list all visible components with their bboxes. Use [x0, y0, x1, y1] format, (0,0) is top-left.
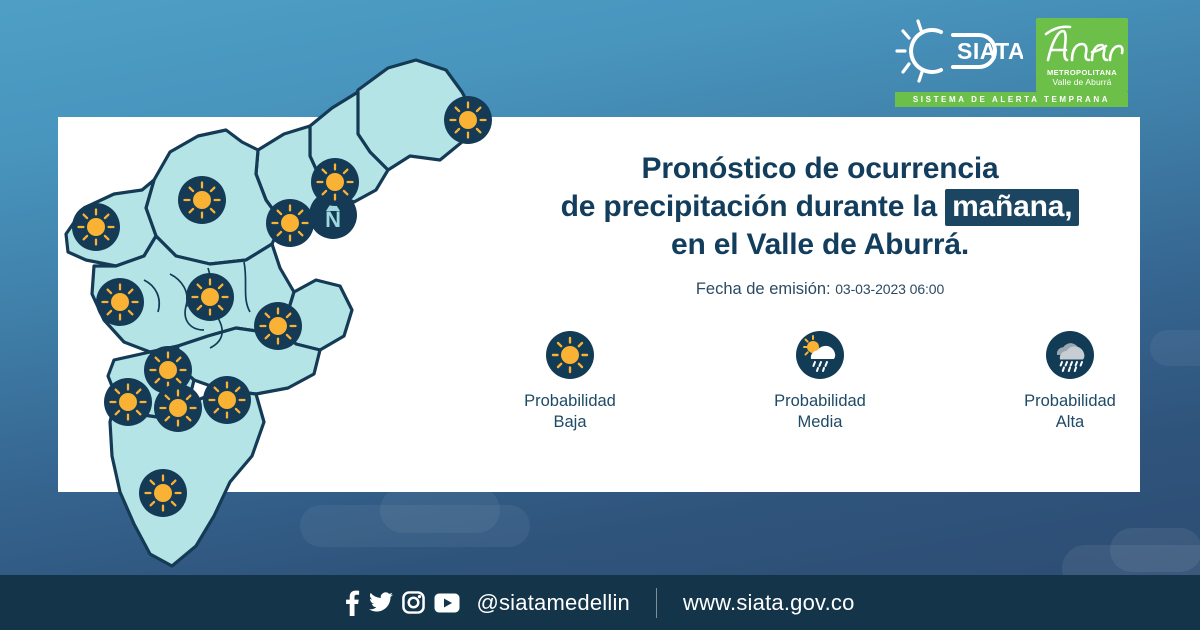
issue-date: Fecha de emisión: 03-03-2023 06:00: [500, 280, 1140, 299]
sun-rain-icon: [796, 331, 844, 379]
legend-item-media: Probabilidad Media: [750, 331, 890, 433]
map-marker-sun-icon[interactable]: [203, 376, 251, 424]
area-logo-line1: METROPOLITANA: [1047, 68, 1117, 77]
map-marker-sun-icon[interactable]: [266, 199, 314, 247]
youtube-icon[interactable]: [434, 593, 460, 613]
title-line-2-text: de precipitación durante la: [561, 190, 946, 223]
map-marker-sun-icon[interactable]: [154, 384, 202, 432]
twitter-icon[interactable]: [369, 592, 393, 614]
social-handle[interactable]: @siatamedellin: [476, 590, 630, 616]
map-marker-sun-icon[interactable]: [139, 469, 187, 517]
sun-icon: [546, 331, 594, 379]
probability-legend: Probabilidad Baja: [500, 331, 1140, 433]
legend-item-baja: Probabilidad Baja: [500, 331, 640, 433]
title-line-2: de precipitación durante la mañana,: [500, 188, 1140, 226]
issue-date-label: Fecha de emisión:: [696, 280, 831, 298]
title-line-1: Pronóstico de ocurrencia: [500, 150, 1140, 188]
map-marker-sun-icon[interactable]: [444, 96, 492, 144]
map-marker-sun-icon[interactable]: [178, 176, 226, 224]
legend-label-line1: Probabilidad: [1000, 391, 1140, 412]
title-highlight-manana: mañana,: [945, 189, 1079, 226]
decorative-cloud: [1150, 330, 1200, 366]
map-marker-sun-icon[interactable]: [96, 278, 144, 326]
decorative-cloud: [1110, 528, 1200, 572]
legend-label-line2: Media: [750, 412, 890, 433]
decorative-cloud: [380, 487, 500, 533]
tagline-bar: SISTEMA DE ALERTA TEMPRANA: [895, 92, 1128, 107]
siata-logo: SIATA: [895, 18, 1023, 84]
legend-item-alta: Probabilidad Alta: [1000, 331, 1140, 433]
compass-label: N: [325, 207, 341, 232]
tagline-text: SISTEMA DE ALERTA TEMPRANA: [913, 95, 1110, 104]
forecast-panel: Pronóstico de ocurrencia de precipitació…: [500, 150, 1140, 433]
map-marker-sun-icon[interactable]: [72, 203, 120, 251]
map-marker-sun-icon[interactable]: [186, 273, 234, 321]
legend-label-line1: Probabilidad: [750, 391, 890, 412]
area-metropolitana-logo: METROPOLITANA Valle de Aburrá: [1036, 18, 1128, 92]
legend-label-line2: Baja: [500, 412, 640, 433]
map-marker-sun-icon[interactable]: [104, 378, 152, 426]
footer-divider: [656, 588, 657, 618]
area-script-icon: [1036, 22, 1128, 68]
page-title: Pronóstico de ocurrencia de precipitació…: [500, 150, 1140, 264]
instagram-icon[interactable]: [402, 591, 425, 614]
legend-label-line1: Probabilidad: [500, 391, 640, 412]
facebook-icon[interactable]: [345, 590, 360, 616]
issue-date-value: 03-03-2023 06:00: [835, 281, 944, 297]
area-logo-line2: Valle de Aburrá: [1053, 77, 1112, 87]
title-line-3: en el Valle de Aburrá.: [500, 226, 1140, 264]
map-marker-sun-icon[interactable]: [311, 158, 359, 206]
brand-logos: SIATA METROPOLITANA Valle de Aburrá: [895, 18, 1128, 92]
map-marker-sun-icon[interactable]: [254, 302, 302, 350]
social-links[interactable]: [345, 590, 460, 616]
website-url[interactable]: www.siata.gov.co: [683, 590, 855, 616]
svg-text:SIATA: SIATA: [957, 38, 1023, 64]
rain-cloud-icon: [1046, 331, 1094, 379]
footer-bar: @siatamedellin www.siata.gov.co: [0, 575, 1200, 630]
legend-label-line2: Alta: [1000, 412, 1140, 433]
